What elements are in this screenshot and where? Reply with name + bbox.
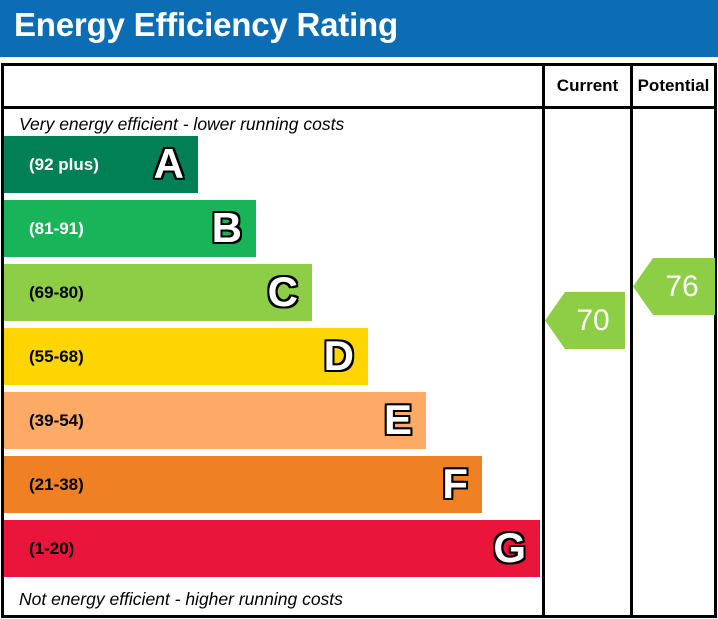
band-range-label-c: (69-80): [29, 264, 84, 321]
rating-band-g: (1-20)G: [4, 520, 540, 577]
band-letter-a: A: [154, 136, 184, 193]
band-letter-b: B: [212, 200, 242, 257]
band-range-label-e: (39-54): [29, 392, 84, 449]
title-bar: Energy Efficiency Rating: [0, 0, 718, 57]
rating-table: Current Potential Very energy efficient …: [1, 63, 717, 618]
band-range-label-d: (55-68): [29, 328, 84, 385]
rating-band-c: (69-80)C: [4, 264, 312, 321]
band-letter-d: D: [324, 328, 354, 385]
band-range-label-f: (21-38): [29, 456, 84, 513]
header-divider: [4, 106, 714, 109]
potential-rating-value: 76: [649, 272, 698, 302]
potential-rating-marker: 76: [633, 258, 715, 315]
current-rating-marker: 70: [545, 292, 625, 349]
band-letter-f: F: [442, 456, 468, 513]
current-rating-value: 70: [560, 306, 609, 336]
column-divider-current: [542, 66, 545, 615]
rating-band-d: (55-68)D: [4, 328, 368, 385]
column-header-potential: Potential: [633, 73, 714, 99]
page-title: Energy Efficiency Rating: [14, 6, 398, 44]
band-letter-c: C: [268, 264, 298, 321]
caption-bottom: Not energy efficient - higher running co…: [19, 589, 343, 610]
caption-top: Very energy efficient - lower running co…: [19, 114, 344, 135]
column-divider-potential: [630, 66, 633, 615]
band-letter-e: E: [384, 392, 412, 449]
rating-band-a: (92 plus)A: [4, 136, 198, 193]
band-letter-g: G: [493, 520, 526, 577]
band-range-label-b: (81-91): [29, 200, 84, 257]
rating-band-f: (21-38)F: [4, 456, 482, 513]
column-header-current: Current: [545, 73, 630, 99]
energy-efficiency-rating-chart: Energy Efficiency Rating Current Potenti…: [0, 0, 718, 619]
rating-band-e: (39-54)E: [4, 392, 426, 449]
band-range-label-a: (92 plus): [29, 136, 99, 193]
band-range-label-g: (1-20): [29, 520, 74, 577]
rating-band-b: (81-91)B: [4, 200, 256, 257]
